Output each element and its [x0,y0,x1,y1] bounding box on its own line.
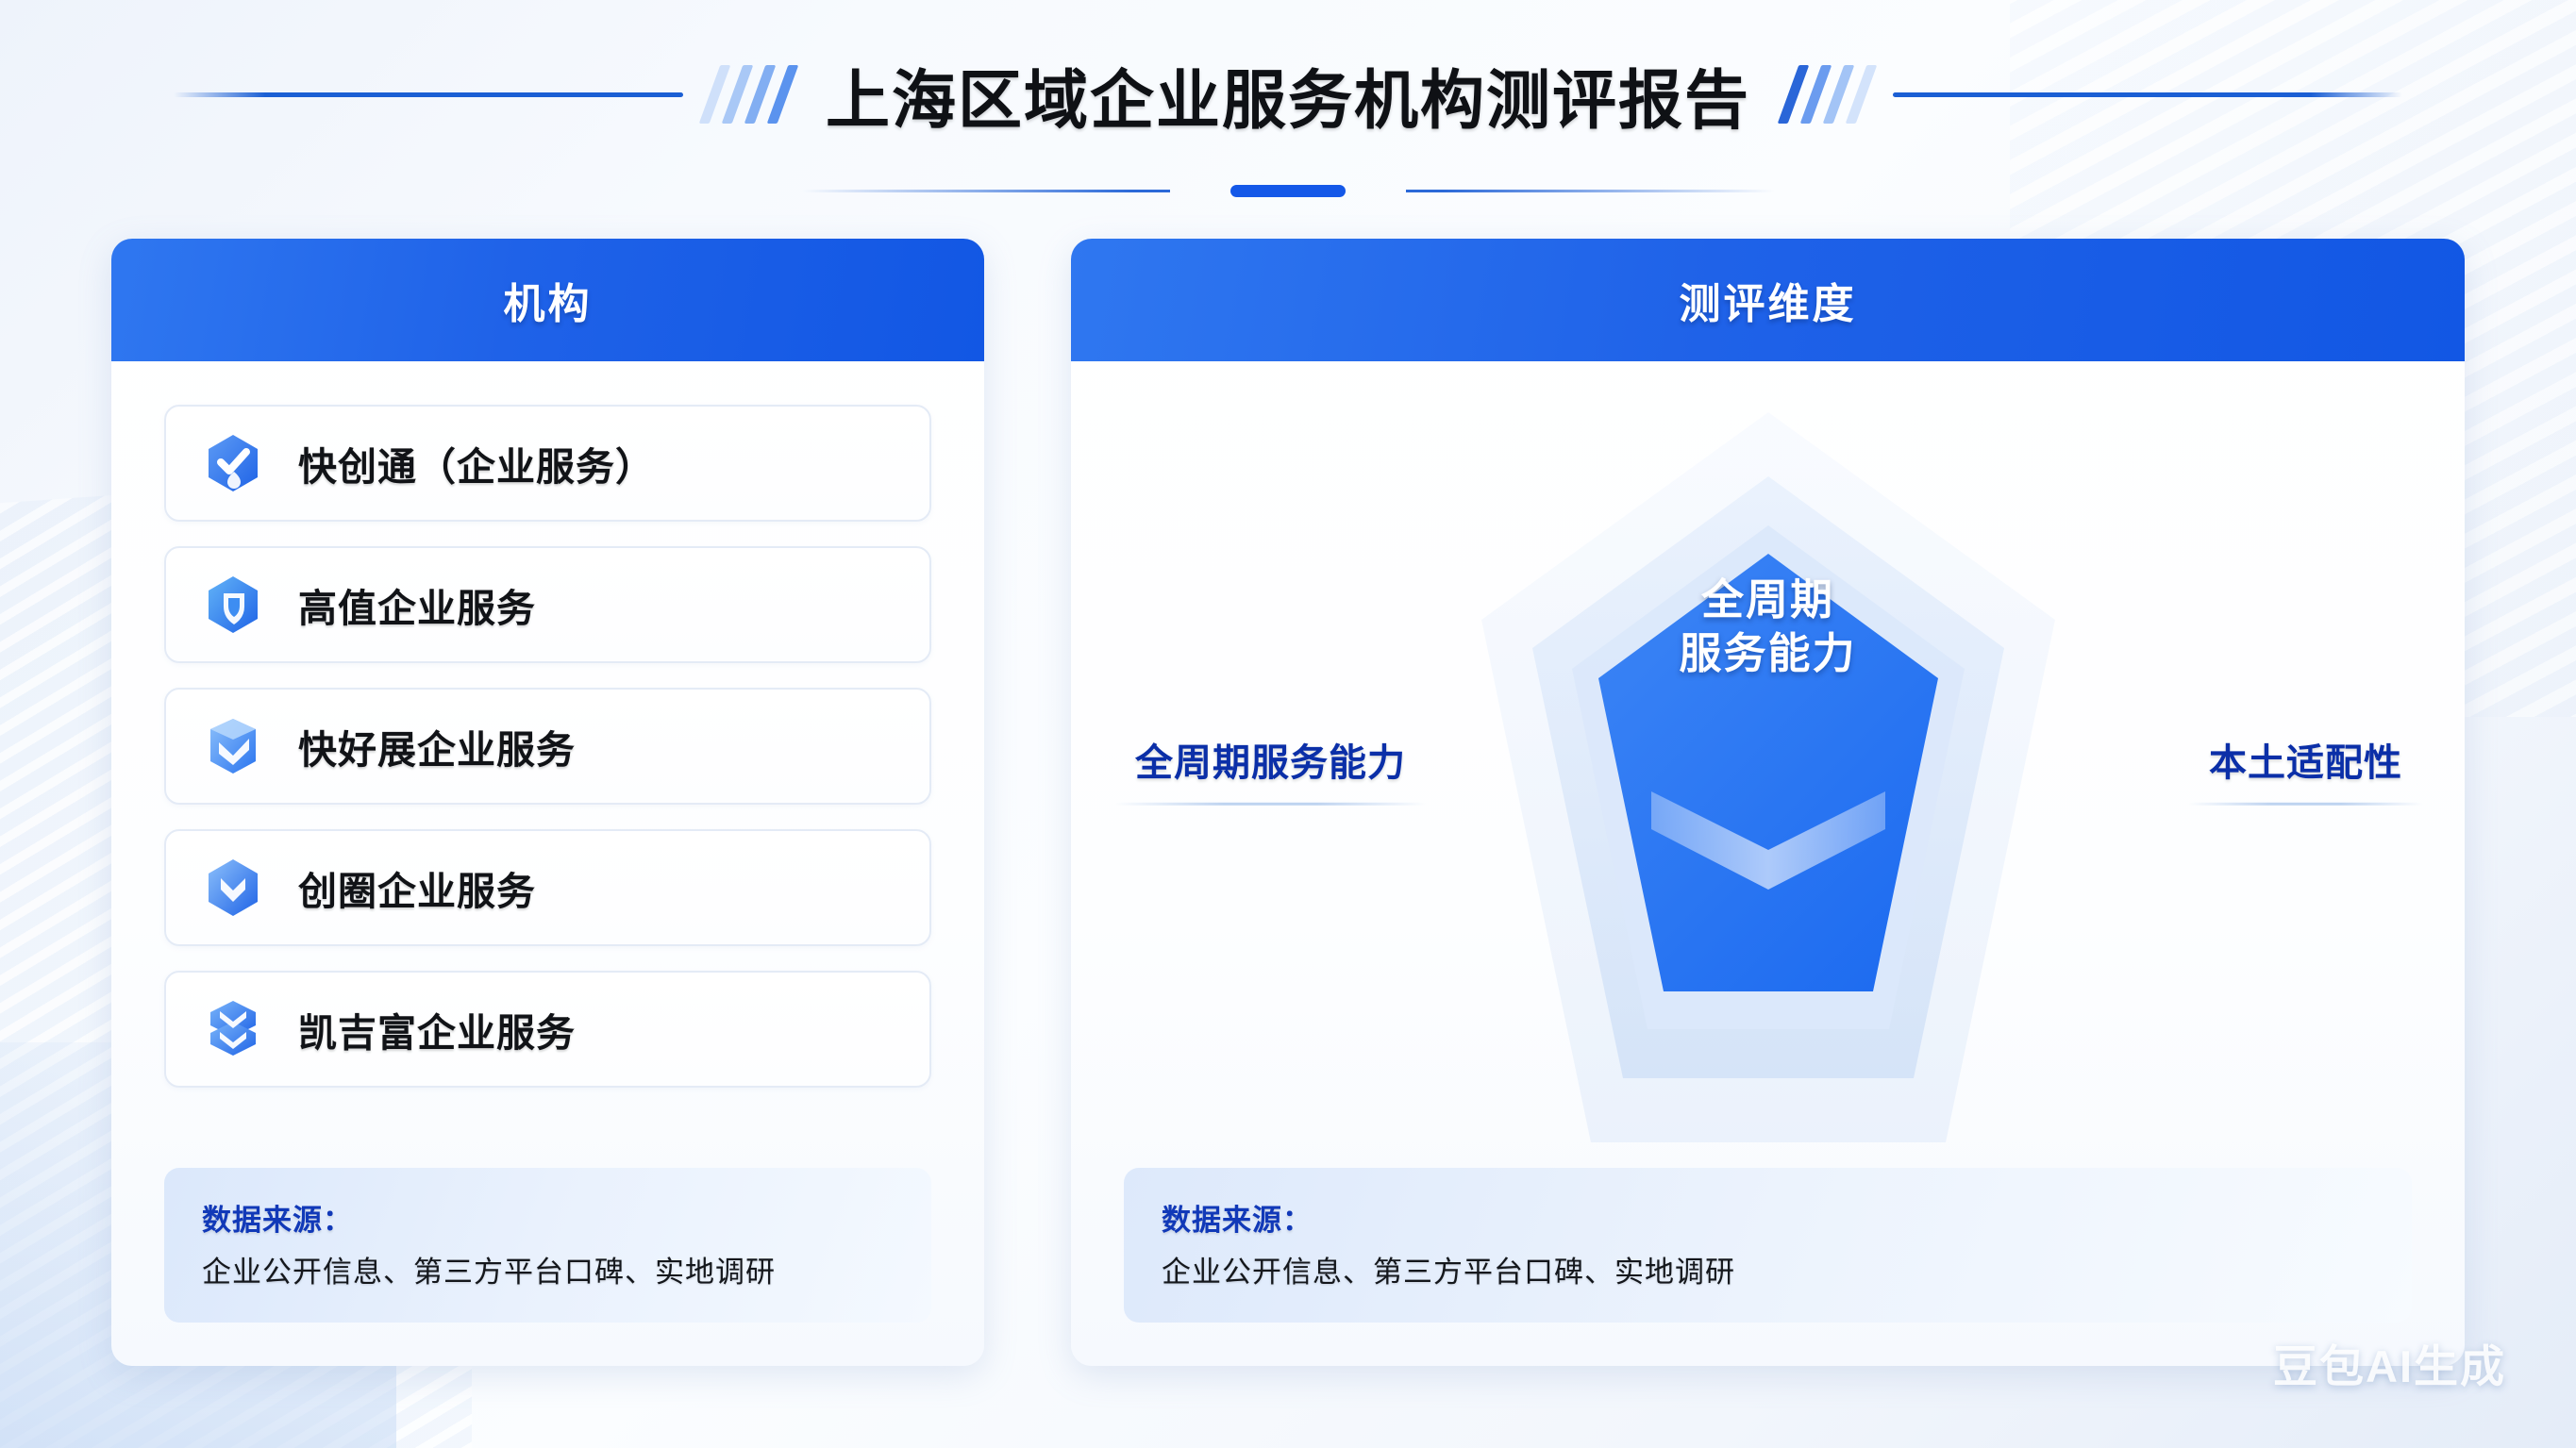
data-source-title: 数据来源： [1162,1196,2374,1239]
list-item[interactable]: 创圈企业服务 [164,829,931,946]
data-source-text: 企业公开信息、第三方平台口碑、实地调研 [1162,1248,2374,1290]
list-item[interactable]: 凯吉富企业服务 [164,971,931,1088]
list-item-label: 高值企业服务 [298,576,536,633]
list-item-label: 快好展企业服务 [298,718,576,774]
hexagon-shield-icon [206,574,260,635]
list-item-label: 快创通（企业服务） [298,435,655,491]
diagonal-slashes-icon [710,65,788,124]
dimensions-panel-header: 测评维度 [1071,239,2465,361]
hexagon-check-icon [206,433,260,493]
hexagon-chevron-icon [206,857,260,918]
organizations-panel-body: 快创通（企业服务） 高值企业服务 [111,361,984,1366]
data-source-box: 数据来源： 企业公开信息、第三方平台口碑、实地调研 [1124,1168,2412,1323]
organizations-panel: 机构 快创通（企业服务） [111,239,984,1366]
panels-container: 机构 快创通（企业服务） [111,239,2465,1366]
dimension-diagram: 全周期服务能力 本土适配性 [1124,405,2412,1143]
diagonal-slashes-icon [1788,65,1866,124]
watermark: 豆包AI生成 [2273,1330,2506,1395]
data-source-text: 企业公开信息、第三方平台口碑、实地调研 [202,1248,894,1290]
data-source-box: 数据来源： 企业公开信息、第三方平台口碑、实地调研 [164,1168,931,1323]
list-item[interactable]: 快好展企业服务 [164,688,931,805]
pentagon-stack: 全周期 服务能力 [1466,407,2070,1142]
list-item-label: 创圈企业服务 [298,859,536,916]
organizations-panel-header: 机构 [111,239,984,361]
pentagon-center-line-1: 全周期 [1466,573,2070,627]
data-source-title: 数据来源： [202,1196,894,1239]
page-header: 上海区域企业服务机构测评报告 [0,47,2576,141]
layers-chevron-icon [206,999,260,1059]
dimension-label-left: 全周期服务能力 [1135,731,1406,805]
dimensions-panel-body: 全周期服务能力 本土适配性 [1071,361,2465,1366]
title-rule-left [174,92,683,97]
organizations-panel-title: 机构 [504,270,593,330]
title-underline-accent-bar [1230,185,1346,197]
pentagon-center-line-2: 服务能力 [1466,626,2070,681]
dimensions-panel-title: 测评维度 [1680,270,1857,330]
dimensions-panel: 测评维度 全周期服务能力 本土适配性 [1071,239,2465,1366]
dimension-label-right: 本土适配性 [2209,731,2402,805]
title-underline [0,185,2576,197]
list-item[interactable]: 高值企业服务 [164,546,931,663]
list-item[interactable]: 快创通（企业服务） [164,405,931,522]
page-title: 上海区域企业服务机构测评报告 [788,48,1788,141]
title-underline-right-line [1406,190,1774,192]
list-item-label: 凯吉富企业服务 [298,1001,576,1057]
pentagon-center-text: 全周期 服务能力 [1466,573,2070,681]
title-underline-left-line [802,190,1170,192]
title-rule-right [1893,92,2402,97]
cube-check-icon [206,716,260,776]
